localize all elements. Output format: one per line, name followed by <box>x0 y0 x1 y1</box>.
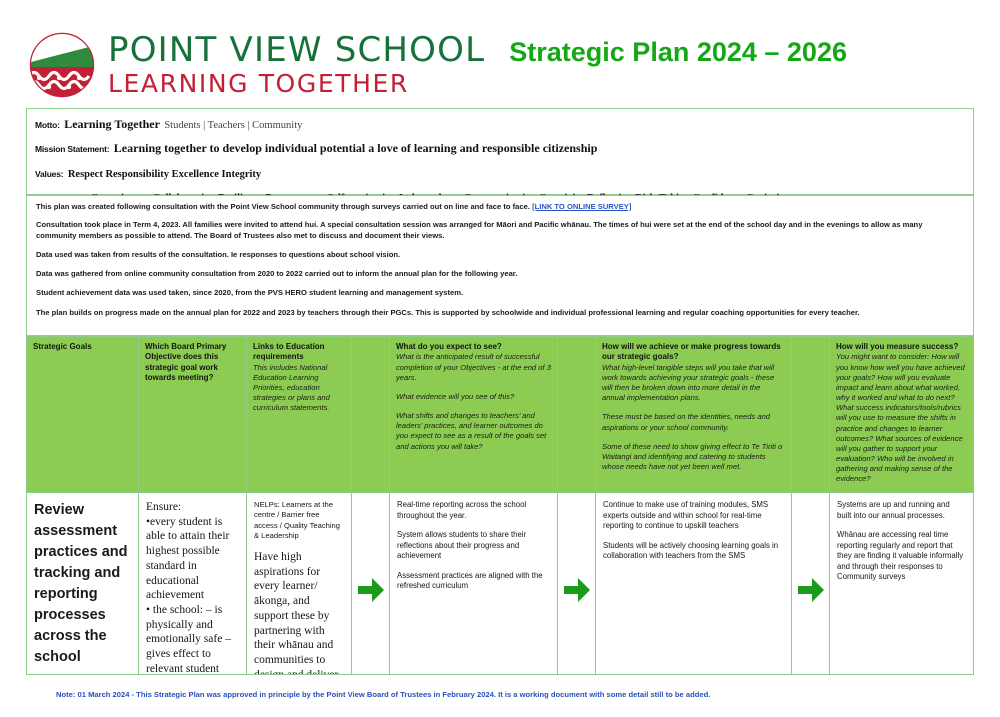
values-label: Values: <box>35 169 63 179</box>
arrow-column-3-header <box>792 337 830 492</box>
motto-bold-text: Learning Together <box>64 117 160 131</box>
school-motto: LEARNING TOGETHER <box>108 70 485 98</box>
column-header-expect-to-see: What do you expect to see? What is the a… <box>390 337 558 492</box>
expect-to-see-list: Real-time reporting across the school th… <box>397 500 550 592</box>
column-subtitle: This includes National Education Learnin… <box>253 363 345 414</box>
column-header-how-achieve: How will we achieve or make progress tow… <box>596 337 792 492</box>
cell-strategic-goal: Review assessment practices and tracking… <box>27 493 139 674</box>
column-subtitle: What shifts and changes to teachers’ and… <box>396 411 551 452</box>
consultation-paragraph-6: The plan builds on progress made on the … <box>36 308 964 318</box>
table-header-row: Strategic Goals Which Board Primary Obje… <box>27 337 973 492</box>
values-text: Respect Responsibility Excellence Integr… <box>68 169 261 180</box>
strategic-goal-text: Review assessment practices and tracking… <box>34 500 131 668</box>
arrow-column-1-header <box>352 337 390 492</box>
identity-info-box: Motto: Learning Together Students | Teac… <box>26 108 974 195</box>
expect-item: Assessment practices are aligned with th… <box>397 571 550 592</box>
column-title: Strategic Goals <box>33 342 132 352</box>
cell-measure-success: Systems are up and running and built int… <box>830 493 973 674</box>
column-subtitle: Some of these need to show giving effect… <box>602 442 785 473</box>
consultation-paragraph-2: Consultation took place in Term 4, 2023.… <box>36 220 964 241</box>
column-title: How will we achieve or make progress tow… <box>602 342 785 363</box>
strategic-plan-page: POINT VIEW SCHOOL LEARNING TOGETHER Stra… <box>0 0 1000 717</box>
page-header: POINT VIEW SCHOOL LEARNING TOGETHER Stra… <box>26 22 974 108</box>
column-header-board-objective: Which Board Primary Objective does this … <box>139 337 247 492</box>
how-achieve-list: Continue to make use of training modules… <box>603 500 784 562</box>
right-arrow-icon <box>792 493 829 674</box>
column-subtitle: What evidence will you see of this? <box>396 392 551 402</box>
strategic-plan-table: Strategic Goals Which Board Primary Obje… <box>26 336 974 675</box>
arrow-column-2-header <box>558 337 596 492</box>
mission-line: Mission Statement: Learning together to … <box>35 139 965 157</box>
consultation-paragraph-5: Student achievement data was used taken,… <box>36 288 964 298</box>
right-arrow-icon <box>558 493 595 674</box>
consultation-p1-text: This plan was created following consulta… <box>36 202 530 211</box>
expect-item: System allows students to share their re… <box>397 530 550 562</box>
cell-how-achieve: Continue to make use of training modules… <box>596 493 792 674</box>
motto-label: Motto: <box>35 120 60 130</box>
arrow-column-2 <box>558 493 596 674</box>
how-achieve-item: Students will be actively choosing learn… <box>603 541 784 562</box>
cell-expect-to-see: Real-time reporting across the school th… <box>390 493 558 674</box>
column-header-measure-success: How will you measure success? You might … <box>830 337 973 492</box>
consultation-info-box: This plan was created following consulta… <box>26 195 974 336</box>
cell-board-objective: Ensure: •every student is able to attain… <box>139 493 247 674</box>
footer: Note: 01 March 2024 - This Strategic Pla… <box>26 684 974 702</box>
aspirations-text: Have high aspirations for every learner/… <box>254 550 344 674</box>
column-header-strategic-goals: Strategic Goals <box>27 337 139 492</box>
school-name: POINT VIEW SCHOOL <box>108 33 485 68</box>
mission-label: Mission Statement: <box>35 144 109 154</box>
nelps-text: NELPs: Learners at the centre / Barrier … <box>254 500 344 541</box>
column-title: Which Board Primary Objective does this … <box>145 342 240 384</box>
values-line: Values: Respect Responsibility Excellenc… <box>35 164 965 182</box>
consultation-paragraph-1: This plan was created following consulta… <box>36 202 964 212</box>
column-subtitle: You might want to consider: How will you… <box>836 352 967 484</box>
online-survey-link[interactable]: [LINK TO ONLINE SURVEY] <box>532 202 631 211</box>
column-title: Links to Education requirements <box>253 342 345 363</box>
mission-text: Learning together to develop individual … <box>114 141 598 155</box>
column-title: What do you expect to see? <box>396 342 551 352</box>
page-title: Strategic Plan 2024 – 2026 <box>509 37 847 68</box>
column-subtitle: These must be based on the identities, n… <box>602 412 785 432</box>
footer-note: Note: 01 March 2024 - This Strategic Pla… <box>56 690 710 699</box>
consultation-paragraph-4: Data was gathered from online community … <box>36 269 964 279</box>
arrow-column-3 <box>792 493 830 674</box>
point-view-school-crest-icon <box>26 29 98 101</box>
cell-links-education: NELPs: Learners at the centre / Barrier … <box>247 493 352 674</box>
right-arrow-icon <box>352 493 389 674</box>
how-achieve-item: Continue to make use of training modules… <box>603 500 784 532</box>
motto-line: Motto: Learning Together Students | Teac… <box>35 115 965 133</box>
motto-rest-text: Students | Teachers | Community <box>164 120 302 131</box>
column-header-links-education: Links to Education requirements This inc… <box>247 337 352 492</box>
measure-item: Systems are up and running and built int… <box>837 500 966 521</box>
consultation-paragraph-3: Data used was taken from results of the … <box>36 250 964 260</box>
column-subtitle: What is the anticipated result of succes… <box>396 352 551 383</box>
measure-success-list: Systems are up and running and built int… <box>837 500 966 583</box>
measure-item: Whānau are accessing real time reporting… <box>837 530 966 583</box>
board-objective-text: Ensure: •every student is able to attain… <box>146 500 239 674</box>
school-identity: POINT VIEW SCHOOL LEARNING TOGETHER <box>108 33 485 97</box>
table-row: Review assessment practices and tracking… <box>27 492 973 674</box>
column-subtitle: What high-level tangible steps will you … <box>602 363 785 404</box>
column-title: How will you measure success? <box>836 342 967 352</box>
arrow-column-1 <box>352 493 390 674</box>
expect-item: Real-time reporting across the school th… <box>397 500 550 521</box>
